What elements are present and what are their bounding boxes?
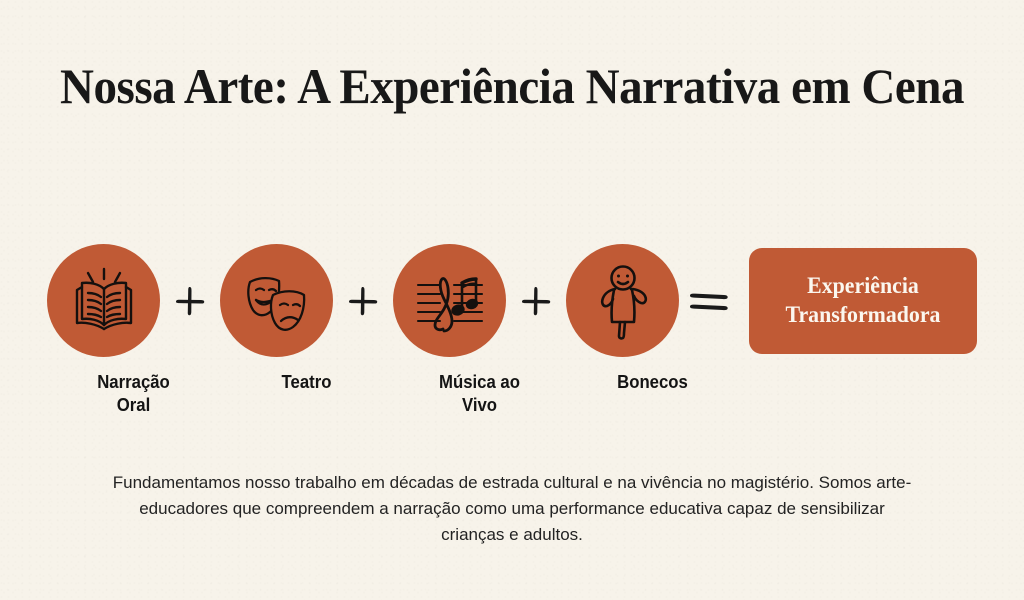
icon-circle-musica-ao-vivo [393, 244, 506, 357]
icon-circle-bonecos [566, 244, 679, 357]
open-book-icon [66, 263, 142, 339]
operator-plus-1 [160, 284, 220, 318]
equation-row: Experiência Transformadora [0, 243, 1024, 358]
result-badge: Experiência Transformadora [749, 248, 977, 354]
equals-icon [686, 286, 732, 316]
plus-icon [346, 284, 380, 318]
labels-row: Narração Oral Teatro Música ao Vivo Bone… [0, 371, 1024, 431]
operator-plus-3 [506, 284, 566, 318]
operator-equals [679, 286, 739, 316]
label-musica-ao-vivo: Música ao Vivo [427, 371, 532, 416]
label-bonecos: Bonecos [600, 371, 705, 394]
plus-icon [173, 284, 207, 318]
hand-puppet-icon [586, 262, 660, 340]
icon-circle-narracao-oral [47, 244, 160, 357]
result-label: Experiência Transformadora [755, 272, 972, 328]
label-narracao-oral: Narração Oral [81, 371, 186, 416]
theater-masks-icon [238, 262, 316, 340]
description-paragraph: Fundamentamos nosso trabalho em décadas … [112, 470, 912, 547]
music-note-icon [410, 261, 490, 341]
operator-plus-2 [333, 284, 393, 318]
icon-circle-teatro [220, 244, 333, 357]
label-teatro: Teatro [254, 371, 359, 394]
page-title: Nossa Arte: A Experiência Narrativa em C… [31, 58, 994, 114]
plus-icon [519, 284, 553, 318]
